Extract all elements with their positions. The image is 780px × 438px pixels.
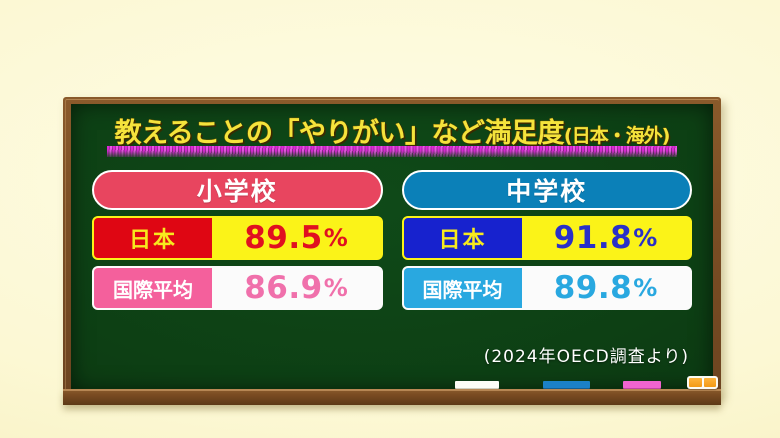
row-label-intl-elementary: 国際平均 xyxy=(94,268,212,308)
value-number: 86.9 xyxy=(244,270,323,306)
title-sub-text: (日本・海外) xyxy=(564,125,669,147)
table-row: 国際平均 89.8% xyxy=(402,266,693,310)
column-header-junior-high: 中学校 xyxy=(402,170,693,210)
row-value-intl-junior-high: 89.8% xyxy=(522,268,691,308)
blackboard-frame: 教えることの「やりがい」など満足度(日本・海外) 小学校 日本 89.5% 国際… xyxy=(63,97,721,397)
value-number: 89.5 xyxy=(244,220,323,256)
white-chalk-icon xyxy=(455,381,499,388)
value-unit: % xyxy=(324,274,349,302)
eraser-icon xyxy=(687,376,718,389)
pink-chalk-icon xyxy=(623,381,661,388)
row-label-japan-junior-high: 日本 xyxy=(404,218,522,258)
page-title: 教えることの「やりがい」など満足度(日本・海外) xyxy=(115,120,670,147)
column-junior-high: 中学校 日本 91.8% 国際平均 89.8% xyxy=(402,170,693,310)
comparison-columns: 小学校 日本 89.5% 国際平均 86.9% 中学校 日本 9 xyxy=(92,170,692,310)
value-unit: % xyxy=(324,224,349,252)
table-row: 日本 89.5% xyxy=(92,216,383,260)
value-number: 89.8 xyxy=(554,270,633,306)
row-label-japan-elementary: 日本 xyxy=(94,218,212,258)
table-row: 日本 91.8% xyxy=(402,216,693,260)
column-header-elementary: 小学校 xyxy=(92,170,383,210)
column-elementary: 小学校 日本 89.5% 国際平均 86.9% xyxy=(92,170,383,310)
chalk-underline-icon xyxy=(107,146,678,157)
row-value-japan-junior-high: 91.8% xyxy=(522,218,691,258)
row-value-japan-elementary: 89.5% xyxy=(212,218,381,258)
row-value-intl-elementary: 86.9% xyxy=(212,268,381,308)
screenshot-stage: 教えることの「やりがい」など満足度(日本・海外) 小学校 日本 89.5% 国際… xyxy=(0,0,780,438)
blue-chalk-icon xyxy=(543,381,590,388)
title-main-text: 教えることの「やりがい」など満足度 xyxy=(115,118,564,149)
board-title-area: 教えることの「やりがい」など満足度(日本・海外) xyxy=(71,120,713,147)
value-unit: % xyxy=(633,224,658,252)
blackboard-surface: 教えることの「やりがい」など満足度(日本・海外) 小学校 日本 89.5% 国際… xyxy=(71,104,713,391)
source-note: (2024年OECD調査より) xyxy=(484,342,689,367)
value-number: 91.8 xyxy=(554,220,633,256)
table-row: 国際平均 86.9% xyxy=(92,266,383,310)
chalk-tray xyxy=(63,389,721,405)
value-unit: % xyxy=(633,274,658,302)
row-label-intl-junior-high: 国際平均 xyxy=(404,268,522,308)
